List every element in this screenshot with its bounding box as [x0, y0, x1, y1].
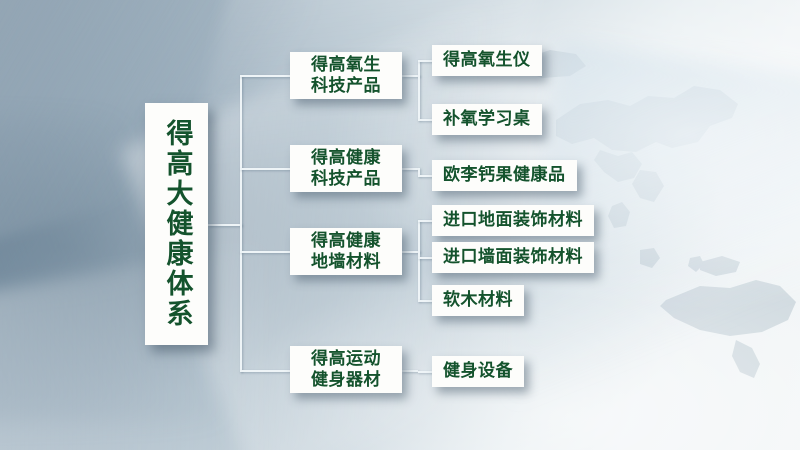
- connector-to-branch-2: [240, 168, 292, 170]
- branch-node-1[interactable]: 得高氧生 科技产品: [290, 52, 402, 99]
- connector-level2-trunk: [240, 75, 242, 372]
- root-node[interactable]: 得高大健康体系: [145, 103, 208, 345]
- diagram-canvas: 得高大健康体系 得高氧生 科技产品 得高健康 科技产品 得高健康 地墙材料 得高…: [0, 0, 800, 450]
- connector-to-branch-3: [240, 251, 292, 253]
- leaf-node-label: 进口墙面装饰材料: [443, 247, 583, 267]
- branch-node-3-line2: 地墙材料: [311, 252, 381, 272]
- branch-node-4[interactable]: 得高运动 健身器材: [290, 346, 402, 393]
- leaf-node-calcium-fruit[interactable]: 欧李钙果健康品: [432, 160, 577, 191]
- leaf-node-label: 得高氧生仪: [443, 50, 531, 70]
- branch-node-3[interactable]: 得高健康 地墙材料: [290, 228, 402, 275]
- branch-node-3-line1: 得高健康: [311, 231, 381, 251]
- root-node-label: 得高大健康体系: [161, 119, 193, 329]
- connector-root-stub: [208, 224, 242, 226]
- leaf-node-floor-material[interactable]: 进口地面装饰材料: [432, 205, 594, 236]
- connector-branch2-stub: [402, 168, 418, 170]
- leaf-node-oxygen-device[interactable]: 得高氧生仪: [432, 45, 542, 76]
- branch-node-2-line1: 得高健康: [311, 148, 381, 168]
- leaf-node-oxygen-desk[interactable]: 补氧学习桌: [432, 104, 542, 135]
- leaf-node-cork-material[interactable]: 软木材料: [432, 285, 524, 316]
- branch-node-4-line2: 健身器材: [311, 370, 381, 390]
- leaf-node-label: 进口地面装饰材料: [443, 210, 583, 230]
- branch-node-1-line2: 科技产品: [311, 76, 381, 96]
- leaf-node-label: 补氧学习桌: [443, 109, 531, 129]
- leaf-node-label: 欧李钙果健康品: [443, 165, 566, 185]
- leaf-node-label: 软木材料: [443, 290, 513, 310]
- connector-branch4-stub: [402, 370, 418, 372]
- leaf-node-label: 健身设备: [443, 361, 513, 381]
- connector-to-branch-1: [240, 75, 292, 77]
- branch-node-4-line1: 得高运动: [311, 349, 381, 369]
- branch-node-2-line2: 科技产品: [311, 169, 381, 189]
- connector-branch3-trunk: [418, 220, 420, 301]
- leaf-node-wall-material[interactable]: 进口墙面装饰材料: [432, 242, 594, 273]
- connector-to-branch-4: [240, 370, 292, 372]
- branch-node-2[interactable]: 得高健康 科技产品: [290, 145, 402, 192]
- leaf-node-fitness-equipment[interactable]: 健身设备: [432, 356, 524, 387]
- connector-branch1-trunk: [418, 60, 420, 120]
- branch-node-1-line1: 得高氧生: [311, 55, 381, 75]
